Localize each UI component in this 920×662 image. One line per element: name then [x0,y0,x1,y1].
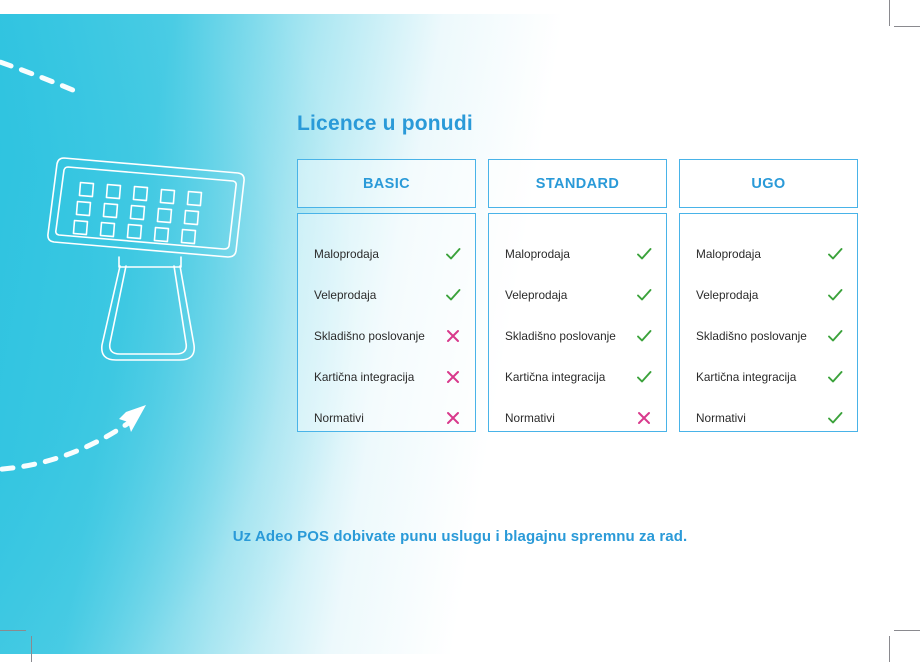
crop-mark-bottom-left-vertical [31,636,32,662]
feature-label: Veleprodaja [696,288,758,302]
card-header-standard: STANDARD [488,159,667,208]
crop-mark-top-right-horizontal [894,26,920,27]
page-title: Licence u ponudi [297,112,473,136]
pos-terminal-icon [40,145,255,380]
feature-label: Normativi [696,411,746,425]
feature-row: Kartična integracija [696,356,844,397]
feature-label: Skladišno poslovanje [696,329,807,343]
feature-label: Veleprodaja [314,288,376,302]
feature-label: Kartična integracija [696,370,796,384]
feature-label: Skladišno poslovanje [505,329,616,343]
crop-mark-bottom-left-horizontal [0,630,26,631]
check-icon [635,286,653,304]
crop-mark-bottom-right-vertical [889,636,890,662]
pos-stand-inner [110,266,187,354]
background-bottom-margin [0,654,920,662]
feature-row: Veleprodaja [505,274,653,315]
feature-label: Maloprodaja [505,247,570,261]
feature-row: Skladišno poslovanje [696,315,844,356]
feature-row: Normativi [696,397,844,438]
feature-label: Kartična integracija [314,370,414,384]
feature-label: Normativi [314,411,364,425]
feature-label: Normativi [505,411,555,425]
feature-row: Skladišno poslovanje [314,315,462,356]
feature-row: Veleprodaja [696,274,844,315]
cross-icon [635,409,653,427]
cross-icon [444,368,462,386]
pos-keypad [73,183,201,244]
feature-row: Kartična integracija [505,356,653,397]
check-icon [826,286,844,304]
license-card-standard[interactable]: STANDARD Maloprodaja Veleprodaja Skladiš… [488,159,667,432]
feature-row: Maloprodaja [505,233,653,274]
check-icon [826,409,844,427]
cross-icon [444,409,462,427]
license-cards: BASIC Maloprodaja Veleprodaja Skladišno … [297,159,858,432]
check-icon [635,327,653,345]
license-card-basic[interactable]: BASIC Maloprodaja Veleprodaja Skladišno … [297,159,476,432]
pos-neck [119,257,181,267]
feature-label: Kartična integracija [505,370,605,384]
feature-label: Skladišno poslovanje [314,329,425,343]
card-body-basic: Maloprodaja Veleprodaja Skladišno poslov… [297,213,476,432]
feature-label: Veleprodaja [505,288,567,302]
crop-mark-bottom-right-horizontal [894,630,920,631]
feature-row: Kartična integracija [314,356,462,397]
card-title-basic: BASIC [363,176,410,192]
check-icon [444,245,462,263]
feature-row: Normativi [314,397,462,438]
card-body-standard: Maloprodaja Veleprodaja Skladišno poslov… [488,213,667,432]
feature-label: Maloprodaja [314,247,379,261]
background-top-margin [0,0,920,14]
license-card-ugo[interactable]: UGO Maloprodaja Veleprodaja Skladišno po… [679,159,858,432]
feature-row: Skladišno poslovanje [505,315,653,356]
tagline-text: Uz Adeo POS dobivate punu uslugu i blaga… [233,528,688,545]
card-title-standard: STANDARD [536,176,619,192]
check-icon [826,368,844,386]
slide-canvas: Licence u ponudi BASIC Maloprodaja Velep… [0,0,920,662]
check-icon [826,327,844,345]
feature-row: Maloprodaja [314,233,462,274]
cross-icon [444,327,462,345]
pos-screen-inner [56,167,236,249]
feature-row: Normativi [505,397,653,438]
feature-row: Veleprodaja [314,274,462,315]
card-header-ugo: UGO [679,159,858,208]
crop-mark-top-right-vertical [889,0,890,26]
feature-label: Maloprodaja [696,247,761,261]
feature-row: Maloprodaja [696,233,844,274]
card-header-basic: BASIC [297,159,476,208]
card-body-ugo: Maloprodaja Veleprodaja Skladišno poslov… [679,213,858,432]
check-icon [826,245,844,263]
card-title-ugo: UGO [751,176,785,192]
check-icon [635,368,653,386]
tagline: Uz Adeo POS dobivate punu uslugu i blaga… [0,528,920,545]
check-icon [444,286,462,304]
check-icon [635,245,653,263]
